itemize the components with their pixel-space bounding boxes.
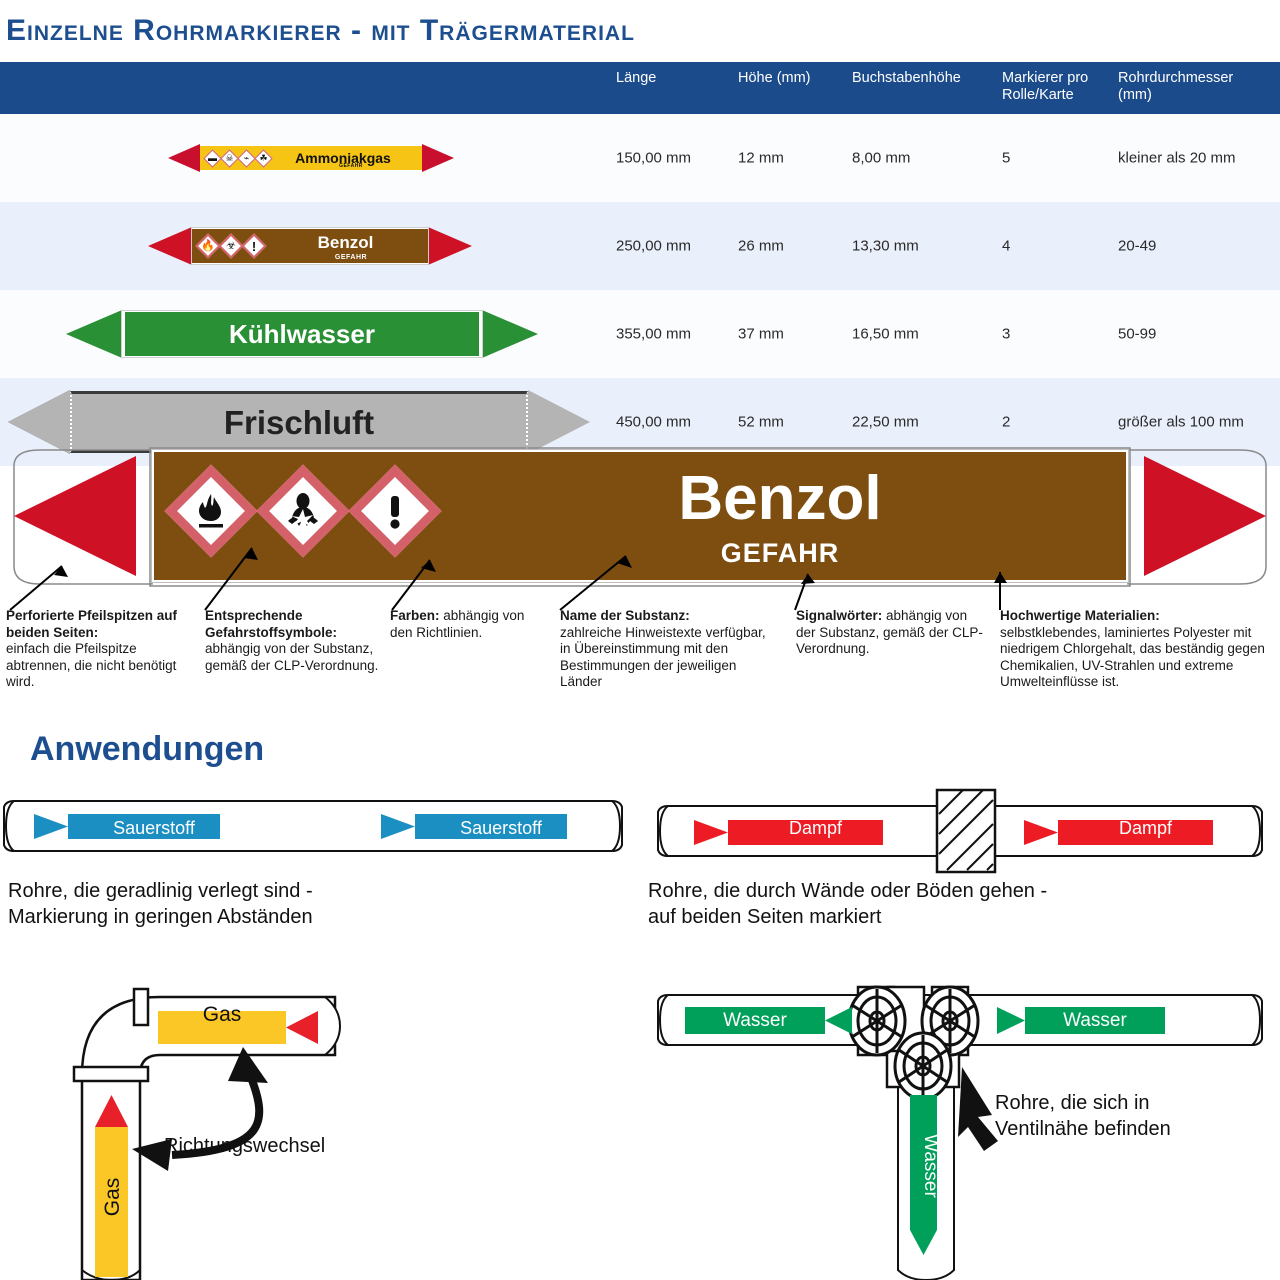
callout-body: abhängig von der Substanz, gemäß der CLP… bbox=[205, 641, 383, 674]
cell-laenge: 450,00 mm bbox=[616, 414, 691, 431]
cell-buchstabenhoehe: 13,30 mm bbox=[852, 238, 919, 255]
applications-heading: Anwendungen bbox=[30, 730, 264, 769]
pipe-marker-preview: 🔥 ☣ ! Benzol GEFAHR bbox=[148, 227, 472, 265]
marker-signalword: GEFAHR bbox=[200, 163, 422, 169]
table-row: Kühlwasser 355,00 mm 37 mm 16,50 mm 3 50… bbox=[0, 290, 1280, 378]
page-title: Einzelne Rohrmarkierer - mit Trägermater… bbox=[6, 14, 635, 48]
column-header-laenge: Länge bbox=[616, 70, 656, 87]
marker-label-sauerstoff-1: Sauerstoff bbox=[88, 818, 220, 839]
caption-line-2: Markierung in geringen Abständen bbox=[8, 906, 313, 928]
callout-item: Hochwertige Materialien: selbstklebendes… bbox=[1000, 608, 1276, 691]
hero-marker-body: Benzol GEFAHR bbox=[152, 450, 1128, 582]
marker-label-wasser-left: Wasser bbox=[685, 1010, 825, 1032]
cell-hoehe: 26 mm bbox=[738, 238, 784, 255]
health-hazard-glyph bbox=[280, 488, 326, 534]
caption-line-1: Rohre, die durch Wände oder Böden gehen … bbox=[648, 880, 1047, 902]
cell-buchstabenhoehe: 16,50 mm bbox=[852, 326, 919, 343]
callout-item: Name der Substanz: zahlreiche Hinweistex… bbox=[560, 608, 778, 691]
callout-item: Entsprechende Gefahrstoffsymbole: abhäng… bbox=[205, 608, 383, 674]
exclamation-glyph bbox=[372, 488, 418, 534]
callout-title: Signalwörter: bbox=[796, 608, 882, 623]
callout-body: einfach die Pfeilspitze abtrennen, die n… bbox=[6, 641, 196, 691]
arrow-right-icon bbox=[482, 310, 538, 358]
wall-hatch bbox=[937, 790, 995, 872]
table-row: ▬ ☠ ⌁ ☘ Ammoniakgas GEFAHR 150,00 mm 12 … bbox=[0, 114, 1280, 202]
ghs-flame-icon bbox=[164, 464, 257, 557]
pipe-marker-preview: Kühlwasser bbox=[66, 310, 538, 358]
callout-item: Farben: abhängig von den Richtlinien. bbox=[390, 608, 550, 641]
marker-label-wasser-right: Wasser bbox=[1025, 1010, 1165, 1032]
marker-label-gas-vertical: Gas bbox=[101, 1142, 125, 1252]
table-header-row: Länge Höhe (mm) Buchstabenhöhe Markierer… bbox=[0, 62, 1280, 114]
direction-arrow-head-up bbox=[228, 1047, 268, 1083]
flange-horizontal bbox=[134, 989, 148, 1025]
caption-through-walls: Rohre, die durch Wände oder Böden gehen … bbox=[648, 878, 1268, 930]
arrow-left-icon bbox=[168, 144, 200, 172]
valve-body-right bbox=[932, 987, 968, 1055]
flame-glyph bbox=[188, 488, 234, 534]
marker-body: ▬ ☠ ⌁ ☘ Ammoniakgas GEFAHR bbox=[200, 145, 422, 171]
caption-line-1: Rohre, die geradlinig verlegt sind - bbox=[8, 880, 313, 902]
callout-item: Signalwörter: abhängig von der Substanz,… bbox=[796, 608, 986, 658]
cell-laenge: 250,00 mm bbox=[616, 238, 691, 255]
caption-direction-change: Richtungswechsel bbox=[164, 1133, 464, 1159]
cell-markierer: 5 bbox=[1002, 150, 1010, 167]
callout-item: Perforierte Pfeilspitzen auf beiden Seit… bbox=[6, 608, 196, 691]
cell-markierer: 4 bbox=[1002, 238, 1010, 255]
pipe-marker-preview: ▬ ☠ ⌁ ☘ Ammoniakgas GEFAHR bbox=[168, 144, 454, 172]
cell-rohrdurchmesser: 50-99 bbox=[1118, 326, 1156, 343]
cell-buchstabenhoehe: 8,00 mm bbox=[852, 150, 910, 167]
caption-line-2: auf beiden Seiten markiert bbox=[648, 906, 881, 928]
cell-markierer: 3 bbox=[1002, 326, 1010, 343]
marker-name: Kühlwasser bbox=[125, 321, 479, 347]
column-header-buchstabenhoehe: Buchstabenhöhe bbox=[852, 70, 961, 87]
valve-body-center bbox=[888, 987, 924, 1055]
valve-handwheel-left bbox=[849, 987, 905, 1055]
hero-marker-signalword: GEFAHR bbox=[454, 538, 1106, 569]
cell-hoehe: 37 mm bbox=[738, 326, 784, 343]
arrow-right-perforated-icon bbox=[1144, 456, 1266, 576]
caption-straight-pipes: Rohre, die geradlinig verlegt sind - Mar… bbox=[8, 878, 608, 930]
marker-label-sauerstoff-2: Sauerstoff bbox=[435, 818, 567, 839]
valve-callout-arrow bbox=[958, 1067, 998, 1151]
cell-hoehe: 12 mm bbox=[738, 150, 784, 167]
marker-label-wasser-down: Wasser bbox=[919, 1101, 941, 1231]
caption-line-1: Rohre, die sich in bbox=[995, 1092, 1150, 1114]
callout-body: zahlreiche Hinweistexte verfügbar, in Üb… bbox=[560, 625, 778, 691]
flange-vertical bbox=[74, 1067, 148, 1081]
caption-near-valves: Rohre, die sich in Ventilnähe befinden bbox=[995, 1090, 1275, 1142]
marker-signalword: GEFAHR bbox=[192, 254, 428, 261]
callout-title: Hochwertige Materialien: bbox=[1000, 608, 1160, 623]
caption-line-2: Ventilnähe befinden bbox=[995, 1118, 1171, 1140]
column-header-rohrdurchmesser: Rohrdurchmesser (mm) bbox=[1118, 70, 1268, 104]
cell-laenge: 150,00 mm bbox=[616, 150, 691, 167]
ghs-health-hazard-icon bbox=[256, 464, 349, 557]
callout-body: selbstklebendes, laminiertes Polyester m… bbox=[1000, 625, 1276, 691]
arrow-left-icon bbox=[66, 310, 122, 358]
hero-marker-name: Benzol bbox=[454, 468, 1106, 530]
callout-title: Farben: bbox=[390, 608, 440, 623]
arrow-right-icon bbox=[422, 144, 454, 172]
valve-body-down bbox=[887, 1051, 959, 1087]
cell-markierer: 2 bbox=[1002, 414, 1010, 431]
marker-name: Benzol bbox=[263, 234, 428, 251]
marker-label-dampf-1: Dampf bbox=[748, 818, 883, 839]
column-header-hoehe: Höhe (mm) bbox=[738, 70, 811, 87]
cell-rohrdurchmesser: 20-49 bbox=[1118, 238, 1156, 255]
caption-line-1: Richtungswechsel bbox=[164, 1135, 325, 1157]
pipe-diagram-direction-change bbox=[0, 955, 640, 1280]
marker-label-dampf-2: Dampf bbox=[1078, 818, 1213, 839]
cell-rohrdurchmesser: kleiner als 20 mm bbox=[1118, 150, 1236, 167]
column-header-markierer: Markierer pro Rolle/Karte bbox=[1002, 70, 1098, 104]
specs-table: Länge Höhe (mm) Buchstabenhöhe Markierer… bbox=[0, 62, 1280, 466]
hero-pipe-marker: Benzol GEFAHR bbox=[0, 444, 1280, 590]
table-row: 🔥 ☣ ! Benzol GEFAHR 250,00 mm 26 mm 13,3… bbox=[0, 202, 1280, 290]
hero-pictogram-row bbox=[178, 478, 428, 544]
cell-rohrdurchmesser: größer als 100 mm bbox=[1118, 414, 1244, 431]
arrow-left-perforated-icon bbox=[14, 456, 136, 576]
callout-title: Perforierte Pfeilspitzen auf beiden Seit… bbox=[6, 608, 177, 640]
arrow-left-icon bbox=[148, 227, 192, 265]
callout-title: Entsprechende Gefahrstoffsymbole: bbox=[205, 608, 337, 640]
valve-handwheel-down bbox=[895, 1033, 951, 1099]
callout-list: Perforierte Pfeilspitzen auf beiden Seit… bbox=[0, 608, 1280, 718]
valve-body-left bbox=[858, 987, 894, 1055]
cell-buchstabenhoehe: 22,50 mm bbox=[852, 414, 919, 431]
marker-body: 🔥 ☣ ! Benzol GEFAHR bbox=[192, 228, 428, 264]
marker-label-gas-horizontal: Gas bbox=[160, 1003, 284, 1027]
marker-name: Frischluft bbox=[72, 406, 526, 439]
valve-handwheel-right bbox=[922, 987, 978, 1055]
ghs-exclamation-icon bbox=[348, 464, 441, 557]
marker-body: Kühlwasser bbox=[122, 311, 482, 357]
arrow-right-icon bbox=[428, 227, 472, 265]
cell-hoehe: 52 mm bbox=[738, 414, 784, 431]
callout-title: Name der Substanz: bbox=[560, 608, 690, 623]
cell-laenge: 355,00 mm bbox=[616, 326, 691, 343]
